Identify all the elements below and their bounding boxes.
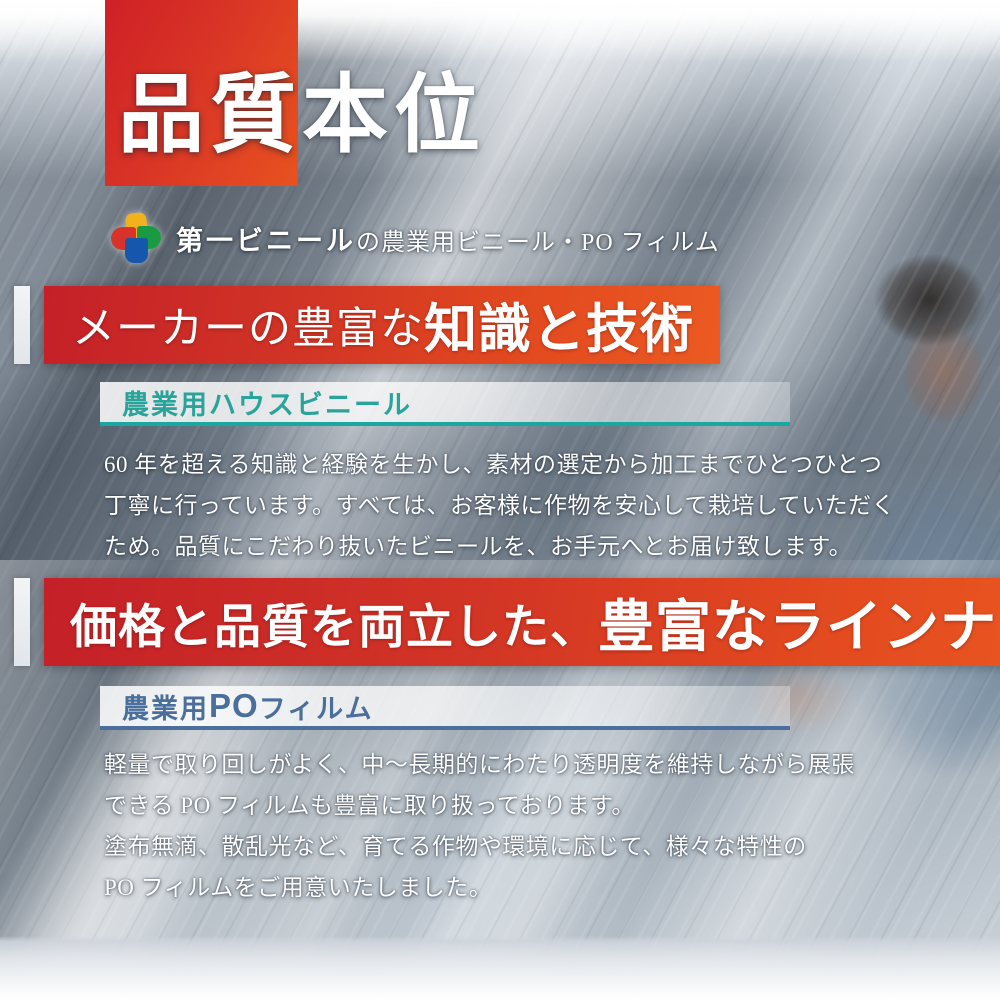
body-copy-lineup: 軽量で取り回しがよく、中〜長期的にわたり透明度を維持しながら展張 できる PO … bbox=[104, 744, 904, 908]
subheading-po-film: 農業用POフィルム bbox=[100, 686, 790, 730]
banner-content: 品質本位 第一ビニールの農業用ビニール・PO フィルム メーカーの豊富な知識と技… bbox=[0, 0, 1000, 1000]
heading-gap bbox=[30, 578, 44, 666]
brand-name: 第一ビニール bbox=[176, 226, 356, 256]
brand-tagline-tail: の農業用ビニール・PO フィルム bbox=[356, 230, 720, 256]
body-line: 丁寧に行っています。すべては、お客様に作物を安心して栽培していただく bbox=[104, 485, 904, 526]
body-copy-knowledge: 60 年を超える知識と経験を生かし、素材の選定から加工までひとつひとつ 丁寧に行… bbox=[104, 444, 904, 567]
promo-banner: 品質本位 第一ビニールの農業用ビニール・PO フィルム メーカーの豊富な知識と技… bbox=[0, 0, 1000, 1000]
brand-logo-row: 第一ビニールの農業用ビニール・PO フィルム bbox=[110, 212, 720, 264]
section-heading-lineup: 価格と品質を両立した、豊富なラインナップ bbox=[14, 578, 1000, 666]
subheading-prefix: 農業用 bbox=[122, 687, 209, 726]
heading-accent-bar bbox=[14, 578, 30, 666]
subheading-suffix: フィルム bbox=[259, 687, 374, 726]
body-line: 塗布無滴、散乱光など、育てる作物や環境に応じて、様々な特性の bbox=[104, 826, 904, 867]
heading-large-text: 豊富なラインナップ bbox=[598, 582, 1000, 663]
heading-accent-bar bbox=[14, 286, 30, 364]
heading-gap bbox=[30, 286, 44, 364]
hero-title: 品質本位 bbox=[118, 72, 486, 158]
subheading-label: 農業用ハウスビニール bbox=[122, 383, 412, 422]
subheading-po-label: PO bbox=[209, 687, 259, 725]
section-heading-knowledge: メーカーの豊富な知識と技術 bbox=[14, 286, 720, 364]
body-line: ため。品質にこだわり抜いたビニールを、お手元へとお届け致します。 bbox=[104, 526, 904, 567]
body-line: 軽量で取り回しがよく、中〜長期的にわたり透明度を維持しながら展張 bbox=[104, 744, 904, 785]
body-line: できる PO フィルムも豊富に取り扱っております。 bbox=[104, 785, 904, 826]
heading-small-text: 価格と品質を両立した、 bbox=[70, 588, 598, 657]
flower-logo-icon bbox=[110, 212, 162, 264]
heading-red-band: 価格と品質を両立した、豊富なラインナップ bbox=[44, 578, 1000, 666]
subheading-house-vinyl: 農業用ハウスビニール bbox=[100, 382, 790, 426]
heading-large-text: 知識と技術 bbox=[424, 287, 694, 363]
body-line: PO フィルムをご用意いたしました。 bbox=[104, 867, 904, 908]
heading-small-text: メーカーの豊富な bbox=[72, 294, 424, 356]
heading-red-band: メーカーの豊富な知識と技術 bbox=[44, 286, 720, 364]
body-line: 60 年を超える知識と経験を生かし、素材の選定から加工までひとつひとつ bbox=[104, 444, 904, 485]
brand-tagline: 第一ビニールの農業用ビニール・PO フィルム bbox=[176, 219, 720, 258]
